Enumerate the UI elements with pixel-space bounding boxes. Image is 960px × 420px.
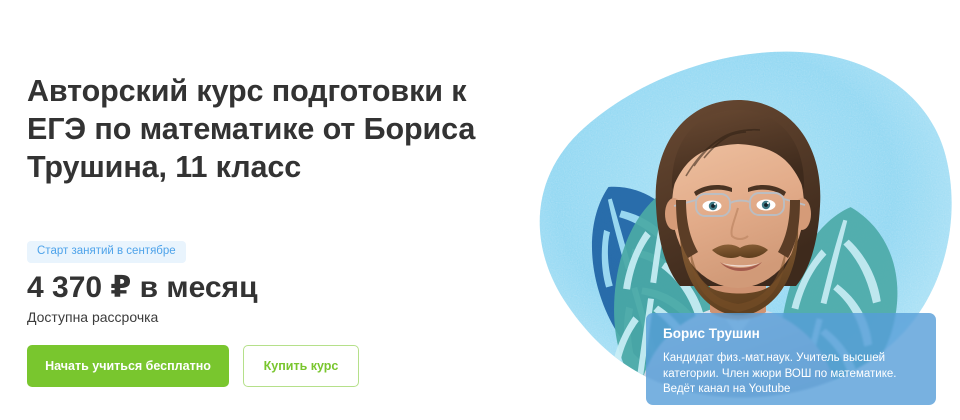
author-description: Кандидат физ.-мат.наук. Учитель высшей к…	[663, 351, 920, 398]
cta-button-row: Начать учиться бесплатно Купить курс	[27, 345, 359, 387]
page-title: Авторский курс подготовки к ЕГЭ по матем…	[27, 72, 507, 186]
buy-course-button[interactable]: Купить курс	[243, 345, 359, 387]
installment-note: Доступна рассрочка	[27, 308, 158, 326]
start-free-button[interactable]: Начать учиться бесплатно	[27, 345, 229, 387]
status-badge: Старт занятий в сентябре	[27, 241, 186, 263]
hero-content-column: Авторский курс подготовки к ЕГЭ по матем…	[27, 0, 527, 420]
price-label: 4 370 ₽ в месяц	[27, 269, 258, 307]
author-name: Борис Трушин	[663, 326, 920, 342]
hero-banner: Борис Трушин Кандидат физ.-мат.наук. Учи…	[0, 0, 960, 420]
author-info-card: Борис Трушин Кандидат физ.-мат.наук. Учи…	[646, 313, 936, 405]
